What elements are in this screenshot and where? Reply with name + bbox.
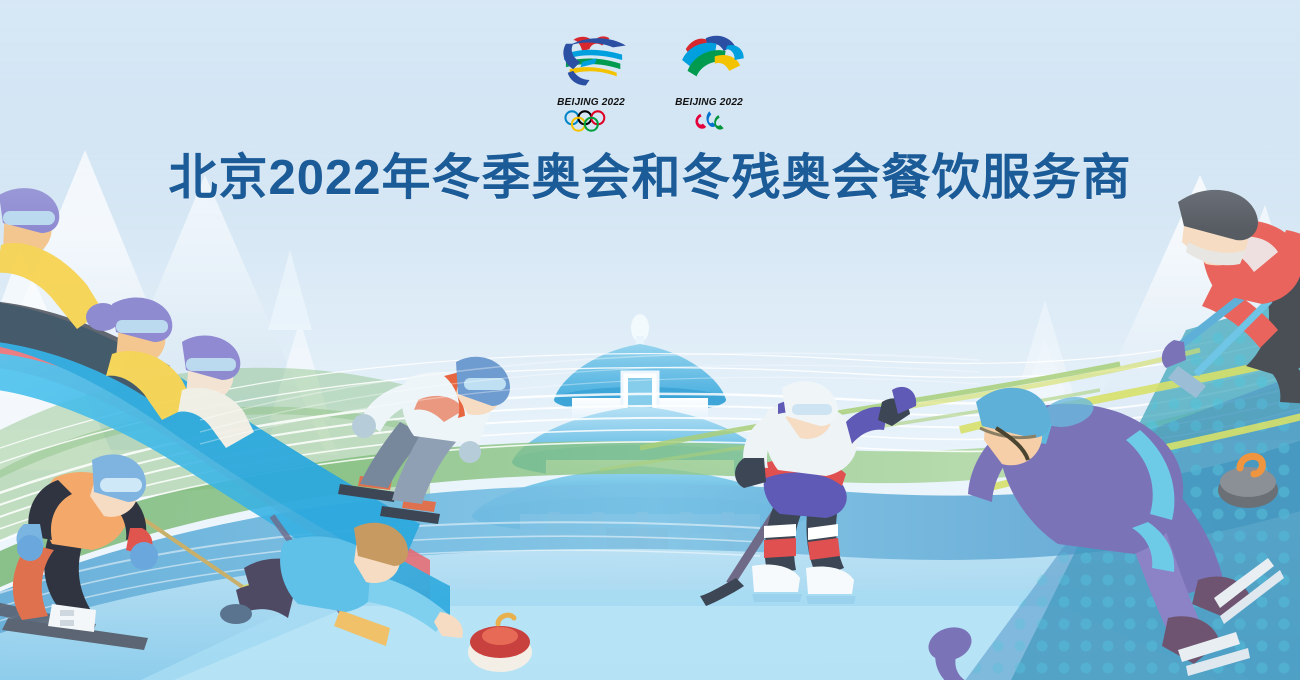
olympic-rings-icon <box>559 110 624 132</box>
emblem-row: BEIJING 2022 <box>0 0 1300 137</box>
paralympic-wordmark: BEIJING 2022 <box>666 96 752 108</box>
olympic-emblem: BEIJING 2022 <box>546 31 636 137</box>
paralympic-emblem: BEIJING 2022 <box>664 31 754 137</box>
flying-high-paralympic-emblem-icon <box>664 31 755 89</box>
olympic-wordmark: BEIJING 2022 <box>548 96 634 108</box>
banner-header: BEIJING 2022 <box>0 0 1300 204</box>
olympic-banner: BEIJING 2022 <box>0 0 1300 680</box>
paralympic-agitos-icon <box>677 110 742 132</box>
winter-dream-olympic-emblem-icon <box>546 31 637 89</box>
page-title: 北京2022年冬季奥会和冬残奥会餐饮服务商 <box>0 137 1300 204</box>
